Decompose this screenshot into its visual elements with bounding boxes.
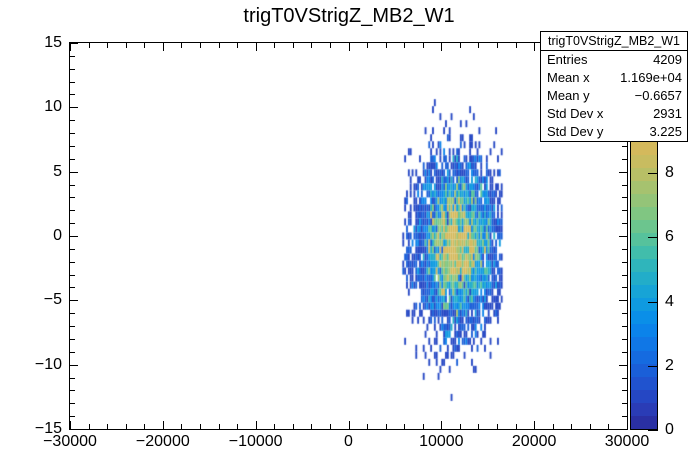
y-tick-minor-right bbox=[622, 185, 627, 186]
page-title: trigT0VStrigZ_MB2_W1 bbox=[0, 5, 698, 28]
y-tick-minor bbox=[70, 133, 75, 134]
x-tick-major-top bbox=[349, 43, 350, 51]
y-tick-major-right bbox=[619, 172, 627, 173]
x-tick-minor bbox=[144, 424, 145, 429]
x-axis-label: 10000 bbox=[419, 433, 464, 451]
palette-tick-label: 8 bbox=[665, 164, 674, 182]
x-tick-major bbox=[70, 421, 71, 429]
palette-tick-label: 0 bbox=[665, 421, 674, 439]
palette-cell bbox=[631, 324, 657, 337]
y-tick-minor bbox=[70, 339, 75, 340]
x-tick-minor bbox=[237, 424, 238, 429]
x-tick-minor-top bbox=[237, 43, 238, 48]
stats-row-value: −0.6657 bbox=[635, 88, 682, 104]
x-tick-minor-top bbox=[478, 43, 479, 48]
y-axis-label: 15 bbox=[8, 34, 62, 52]
y-tick-minor bbox=[70, 56, 75, 57]
palette-cell bbox=[631, 298, 657, 311]
stats-row-key: Mean x bbox=[547, 70, 590, 86]
palette-cell bbox=[631, 311, 657, 324]
y-tick-major bbox=[70, 107, 78, 108]
palette-cell bbox=[631, 246, 657, 259]
y-tick-minor bbox=[70, 275, 75, 276]
x-tick-minor bbox=[460, 424, 461, 429]
y-tick-minor bbox=[70, 69, 75, 70]
x-tick-minor bbox=[200, 424, 201, 429]
x-tick-major-top bbox=[441, 43, 442, 51]
y-tick-major bbox=[70, 172, 78, 173]
x-tick-minor bbox=[367, 424, 368, 429]
y-tick-minor bbox=[70, 249, 75, 250]
stats-row-value: 3.225 bbox=[649, 124, 682, 140]
x-tick-minor-top bbox=[144, 43, 145, 48]
palette-cell bbox=[631, 220, 657, 233]
x-tick-minor bbox=[107, 424, 108, 429]
stats-box: trigT0VStrigZ_MB2_W1 Entries4209Mean x1.… bbox=[540, 31, 688, 142]
x-tick-minor bbox=[219, 424, 220, 429]
x-tick-minor bbox=[590, 424, 591, 429]
palette-tick bbox=[648, 430, 658, 431]
palette-tick bbox=[648, 173, 658, 174]
y-tick-major bbox=[70, 236, 78, 237]
x-tick-major-top bbox=[163, 43, 164, 51]
palette-cell bbox=[631, 142, 657, 155]
x-tick-major bbox=[627, 421, 628, 429]
palette-cell bbox=[631, 351, 657, 364]
y-tick-major-right bbox=[619, 236, 627, 237]
y-tick-minor bbox=[70, 313, 75, 314]
y-tick-major-right bbox=[619, 300, 627, 301]
x-tick-minor-top bbox=[330, 43, 331, 48]
palette-cell bbox=[631, 272, 657, 285]
y-tick-minor bbox=[70, 326, 75, 327]
x-tick-major bbox=[441, 421, 442, 429]
x-axis-label: 0 bbox=[344, 433, 353, 451]
y-tick-minor bbox=[70, 262, 75, 263]
y-tick-minor-right bbox=[622, 159, 627, 160]
y-tick-minor-right bbox=[622, 352, 627, 353]
palette-cell bbox=[631, 233, 657, 246]
y-axis-label: −5 bbox=[8, 291, 62, 309]
palette-cell bbox=[631, 390, 657, 403]
y-tick-minor-right bbox=[622, 197, 627, 198]
x-tick-major bbox=[349, 421, 350, 429]
y-tick-minor bbox=[70, 287, 75, 288]
x-tick-minor-top bbox=[404, 43, 405, 48]
y-tick-major-right bbox=[619, 365, 627, 366]
x-tick-minor bbox=[274, 424, 275, 429]
y-axis-label: −10 bbox=[8, 356, 62, 374]
y-tick-minor bbox=[70, 352, 75, 353]
y-tick-minor-right bbox=[622, 210, 627, 211]
x-axis-label: −20000 bbox=[136, 433, 190, 451]
y-tick-minor bbox=[70, 146, 75, 147]
palette-tick bbox=[648, 302, 658, 303]
x-tick-major bbox=[534, 421, 535, 429]
stats-row: Mean x1.169e+04 bbox=[541, 69, 687, 87]
x-tick-minor-top bbox=[516, 43, 517, 48]
x-tick-minor-top bbox=[293, 43, 294, 48]
palette-cell bbox=[631, 194, 657, 207]
palette-cell bbox=[631, 377, 657, 390]
y-tick-minor bbox=[70, 197, 75, 198]
stats-rows: Entries4209Mean x1.169e+04Mean y−0.6657S… bbox=[541, 51, 687, 141]
palette-cell bbox=[631, 416, 657, 429]
x-tick-minor-top bbox=[219, 43, 220, 48]
y-tick-minor-right bbox=[622, 339, 627, 340]
stats-row-value: 1.169e+04 bbox=[620, 70, 682, 86]
stats-row: Mean y−0.6657 bbox=[541, 87, 687, 105]
y-tick-major-right bbox=[619, 429, 627, 430]
y-tick-major bbox=[70, 429, 78, 430]
x-tick-minor bbox=[181, 424, 182, 429]
stats-row-key: Std Dev x bbox=[547, 106, 603, 122]
y-tick-minor-right bbox=[622, 275, 627, 276]
palette-cell bbox=[631, 337, 657, 350]
palette-tick-label: 6 bbox=[665, 228, 674, 246]
x-tick-minor-top bbox=[311, 43, 312, 48]
x-tick-minor bbox=[478, 424, 479, 429]
stats-row-key: Std Dev y bbox=[547, 124, 603, 140]
root-canvas: trigT0VStrigZ_MB2_W1 −30000−20000−100000… bbox=[0, 0, 698, 476]
y-tick-minor bbox=[70, 390, 75, 391]
palette-cell bbox=[631, 168, 657, 181]
x-tick-minor bbox=[386, 424, 387, 429]
stats-row-value: 2931 bbox=[653, 106, 682, 122]
x-tick-minor bbox=[126, 424, 127, 429]
x-tick-minor-top bbox=[107, 43, 108, 48]
y-tick-major bbox=[70, 365, 78, 366]
y-tick-minor bbox=[70, 82, 75, 83]
stats-row: Entries4209 bbox=[541, 51, 687, 69]
color-palette-bar bbox=[630, 141, 658, 430]
x-tick-minor-top bbox=[200, 43, 201, 48]
palette-cell bbox=[631, 155, 657, 168]
y-tick-minor-right bbox=[622, 416, 627, 417]
stats-row: Std Dev x2931 bbox=[541, 105, 687, 123]
x-tick-minor-top bbox=[497, 43, 498, 48]
y-tick-minor bbox=[70, 416, 75, 417]
x-tick-major-top bbox=[256, 43, 257, 51]
x-tick-minor bbox=[89, 424, 90, 429]
x-tick-minor bbox=[608, 424, 609, 429]
x-tick-minor bbox=[497, 424, 498, 429]
y-tick-minor bbox=[70, 403, 75, 404]
x-tick-minor bbox=[404, 424, 405, 429]
x-tick-minor bbox=[516, 424, 517, 429]
y-tick-minor bbox=[70, 185, 75, 186]
x-tick-major bbox=[163, 421, 164, 429]
x-tick-minor-top bbox=[126, 43, 127, 48]
y-tick-major bbox=[70, 300, 78, 301]
x-tick-minor bbox=[330, 424, 331, 429]
x-axis-label: 20000 bbox=[512, 433, 557, 451]
palette-tick-label: 4 bbox=[665, 293, 674, 311]
x-tick-minor bbox=[311, 424, 312, 429]
x-tick-minor bbox=[553, 424, 554, 429]
y-tick-minor-right bbox=[622, 223, 627, 224]
y-tick-minor bbox=[70, 223, 75, 224]
y-tick-major bbox=[70, 43, 78, 44]
y-axis-label: 10 bbox=[8, 98, 62, 116]
y-axis-label: −15 bbox=[8, 420, 62, 438]
palette-cell bbox=[631, 259, 657, 272]
y-axis-label: 5 bbox=[8, 163, 62, 181]
stats-box-title: trigT0VStrigZ_MB2_W1 bbox=[541, 32, 687, 51]
y-tick-minor-right bbox=[622, 390, 627, 391]
palette-cell bbox=[631, 403, 657, 416]
y-tick-minor-right bbox=[622, 287, 627, 288]
y-tick-minor-right bbox=[622, 378, 627, 379]
y-tick-minor bbox=[70, 159, 75, 160]
stats-row-value: 4209 bbox=[653, 52, 682, 68]
stats-row-key: Mean y bbox=[547, 88, 590, 104]
x-axis-label: 30000 bbox=[605, 433, 650, 451]
x-tick-minor bbox=[423, 424, 424, 429]
x-tick-minor-top bbox=[181, 43, 182, 48]
x-tick-minor bbox=[571, 424, 572, 429]
y-axis-label: 0 bbox=[8, 227, 62, 245]
x-tick-minor bbox=[293, 424, 294, 429]
x-tick-minor-top bbox=[89, 43, 90, 48]
palette-tick bbox=[648, 366, 658, 367]
y-tick-minor-right bbox=[622, 403, 627, 404]
x-axis-label: −10000 bbox=[229, 433, 283, 451]
x-tick-major-top bbox=[534, 43, 535, 51]
y-tick-minor bbox=[70, 210, 75, 211]
x-tick-minor-top bbox=[367, 43, 368, 48]
palette-tick-label: 2 bbox=[665, 357, 674, 375]
x-tick-minor-top bbox=[460, 43, 461, 48]
y-tick-minor-right bbox=[622, 326, 627, 327]
stats-row-key: Entries bbox=[547, 52, 587, 68]
palette-cell bbox=[631, 207, 657, 220]
palette-cell bbox=[631, 285, 657, 298]
x-tick-minor-top bbox=[386, 43, 387, 48]
y-tick-minor bbox=[70, 120, 75, 121]
y-tick-minor-right bbox=[622, 249, 627, 250]
x-tick-minor-top bbox=[274, 43, 275, 48]
x-tick-minor-top bbox=[423, 43, 424, 48]
x-tick-major-top bbox=[70, 43, 71, 51]
y-tick-minor bbox=[70, 378, 75, 379]
y-tick-minor-right bbox=[622, 146, 627, 147]
stats-row: Std Dev y3.225 bbox=[541, 123, 687, 141]
palette-cell bbox=[631, 181, 657, 194]
y-tick-minor-right bbox=[622, 313, 627, 314]
y-tick-minor bbox=[70, 94, 75, 95]
y-tick-minor-right bbox=[622, 262, 627, 263]
palette-tick bbox=[648, 237, 658, 238]
x-tick-major bbox=[256, 421, 257, 429]
